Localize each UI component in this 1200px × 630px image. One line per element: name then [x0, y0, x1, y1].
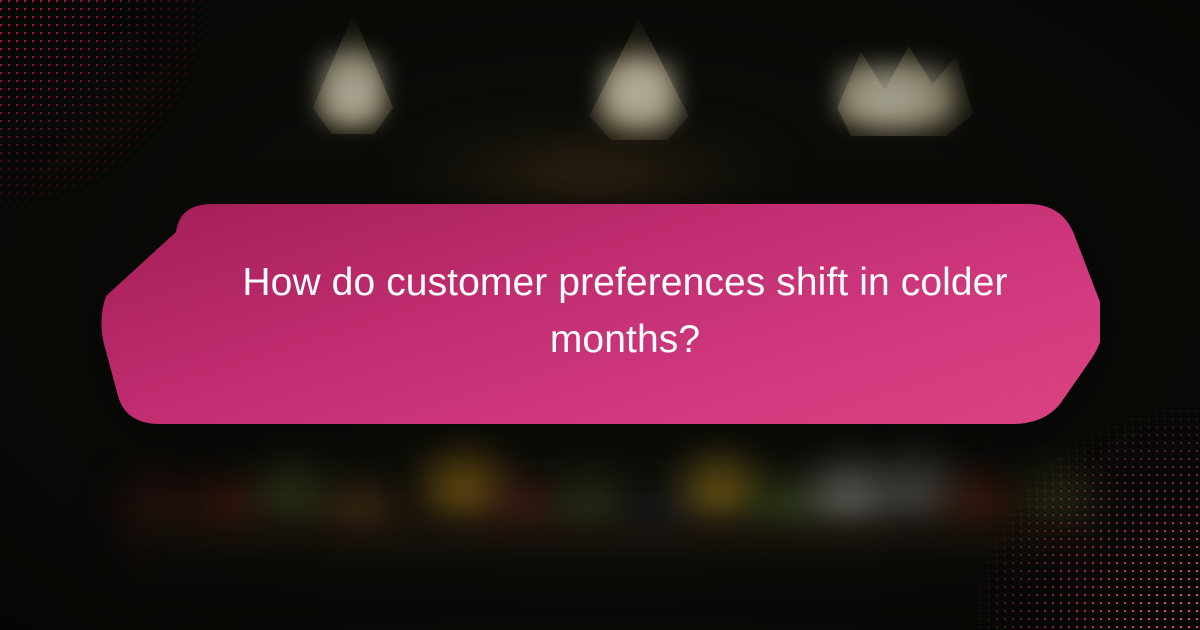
question-text-container: How do customer preferences shift in col…: [210, 198, 1040, 430]
question-card: How do customer preferences shift in col…: [0, 0, 1200, 630]
question-banner: How do customer preferences shift in col…: [100, 198, 1100, 430]
question-text: How do customer preferences shift in col…: [235, 255, 1015, 368]
